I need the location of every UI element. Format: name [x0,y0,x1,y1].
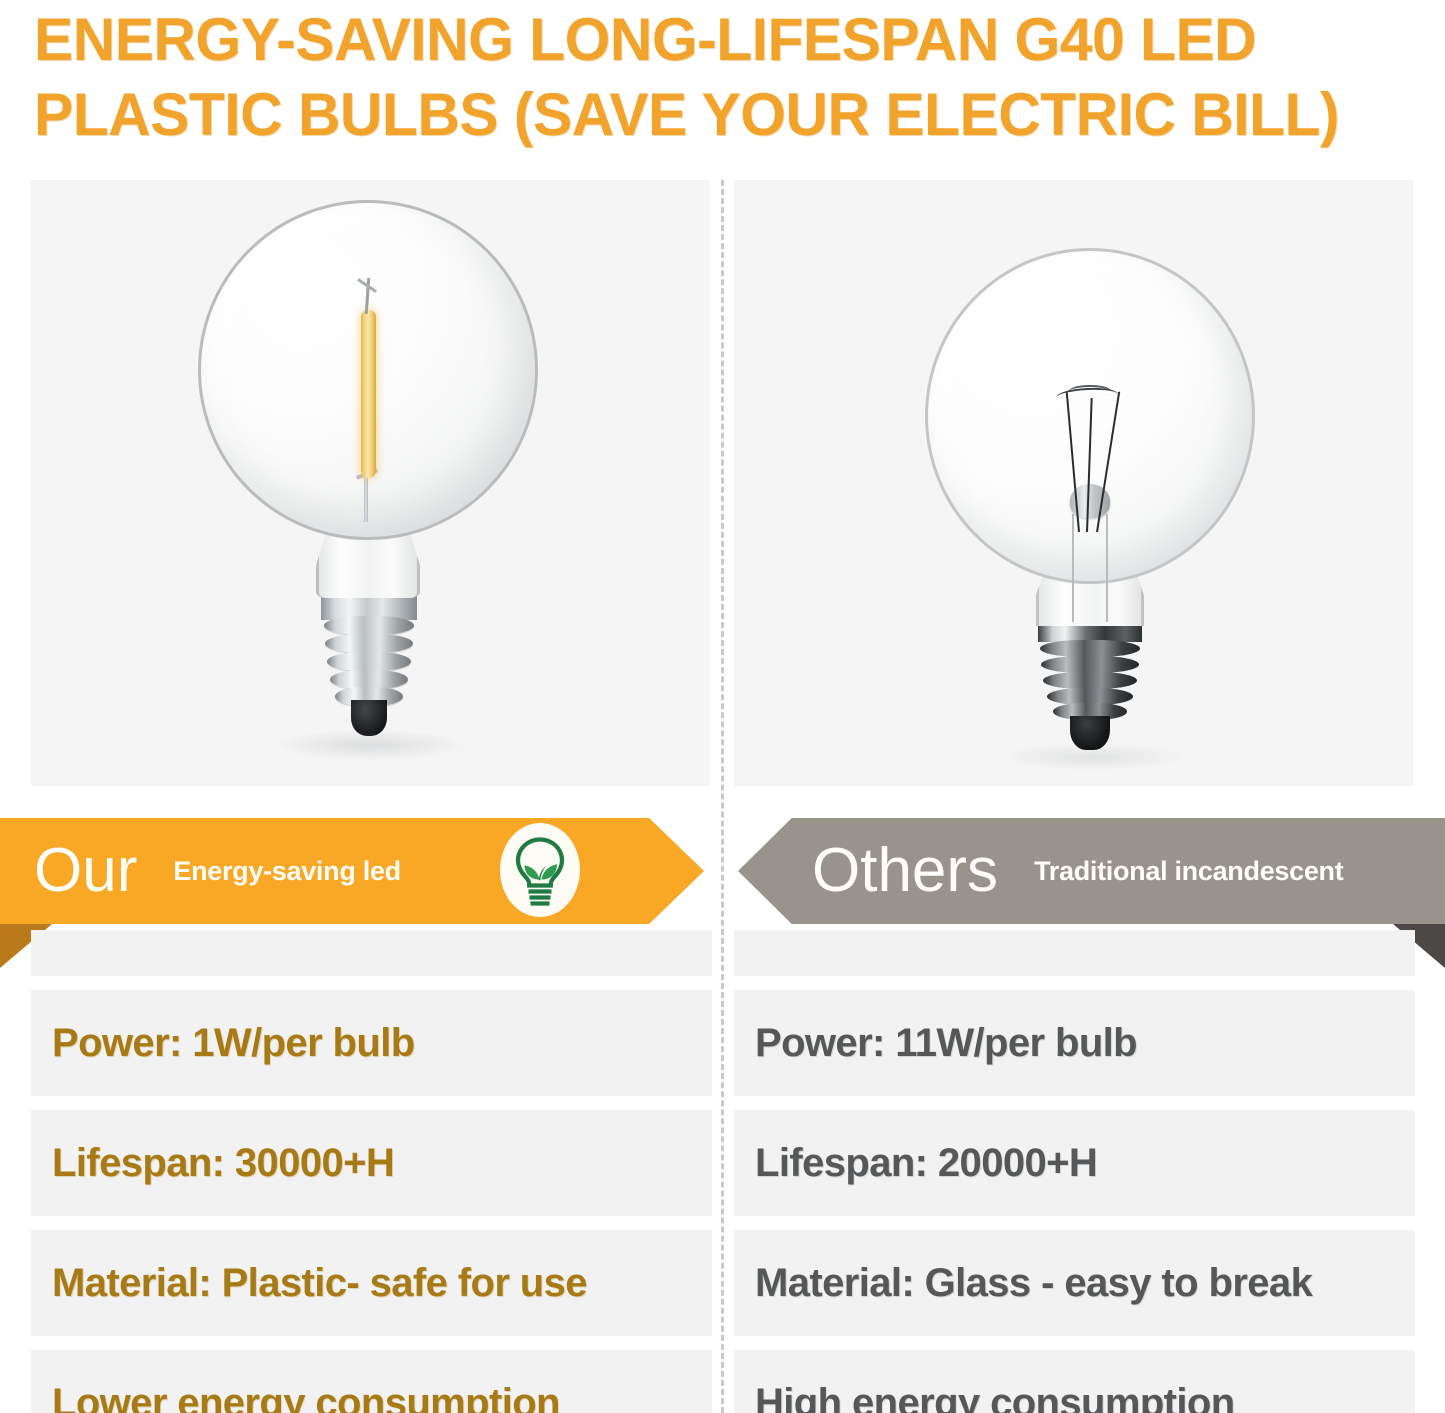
spec-row: Material: Plastic- safe for use [31,1230,712,1336]
photo-panel-others [734,180,1413,786]
spec-row-text: Power: 1W/per bulb [52,1021,415,1066]
photo-panel-our [31,180,710,786]
spec-row: High energy consumption [734,1350,1415,1413]
led-base-thread [327,652,411,671]
spec-row: Power: 11W/per bulb [734,990,1415,1096]
vertical-dashed-divider [721,180,724,1413]
spec-row-text: Lifespan: 20000+H [755,1141,1097,1186]
spec-list-our: Power: 1W/per bulb Lifespan: 30000+H Mat… [31,930,712,1413]
banner-others-heading: Others [812,840,998,902]
spec-row-text: Lower energy consumption [52,1381,560,1413]
banner-our-heading: Our [34,840,137,902]
spec-row-text: Material: Glass - easy to break [755,1261,1312,1306]
led-filament-strip [361,310,376,478]
spec-row-text: Power: 11W/per bulb [755,1021,1137,1066]
led-base-tip [351,700,387,736]
tungsten-filament-coil [1068,385,1112,392]
banner-others: Others Traditional incandescent [738,818,1445,924]
spec-list-others: Power: 11W/per bulb Lifespan: 20000+H Ma… [734,930,1415,1413]
spec-row-text: Material: Plastic- safe for use [52,1261,587,1306]
incandescent-base-thread [1043,672,1137,689]
spec-row-text: High energy consumption [755,1381,1235,1413]
comparison-infographic: ENERGY-SAVING LONG-LIFESPAN G40 LED PLAS… [0,0,1445,1413]
banner-our-subheading: Energy-saving led [173,858,400,885]
incandescent-lead-wire [1106,514,1108,622]
spec-row-text: Lifespan: 30000+H [52,1141,394,1186]
led-bulb-photo [170,200,570,770]
led-filament-support-lower [364,474,368,522]
eco-bulb-leaf-icon [499,822,581,918]
banner-our: Our Energy-saving led [0,818,704,924]
page-title: ENERGY-SAVING LONG-LIFESPAN G40 LED PLAS… [34,2,1386,160]
spec-row: Power: 1W/per bulb [31,990,712,1096]
incandescent-bulb-photo [900,248,1320,768]
incandescent-base-thread [1040,640,1140,657]
spec-row-top-spacer [31,930,712,976]
spec-row: Lifespan: 20000+H [734,1110,1415,1216]
spec-row: Material: Glass - easy to break [734,1230,1415,1336]
incandescent-base-thread [1041,656,1139,673]
incandescent-lead-wire [1072,514,1074,622]
banner-others-subheading: Traditional incandescent [1034,858,1343,885]
incandescent-bulb-base [1038,618,1142,752]
led-bulb-base [321,588,417,738]
spec-row-top-spacer [734,930,1415,976]
spec-row: Lower energy consumption [31,1350,712,1413]
led-base-thread [325,634,413,653]
incandescent-base-tip [1070,716,1110,750]
spec-row: Lifespan: 30000+H [31,1110,712,1216]
led-base-thread [324,616,414,635]
